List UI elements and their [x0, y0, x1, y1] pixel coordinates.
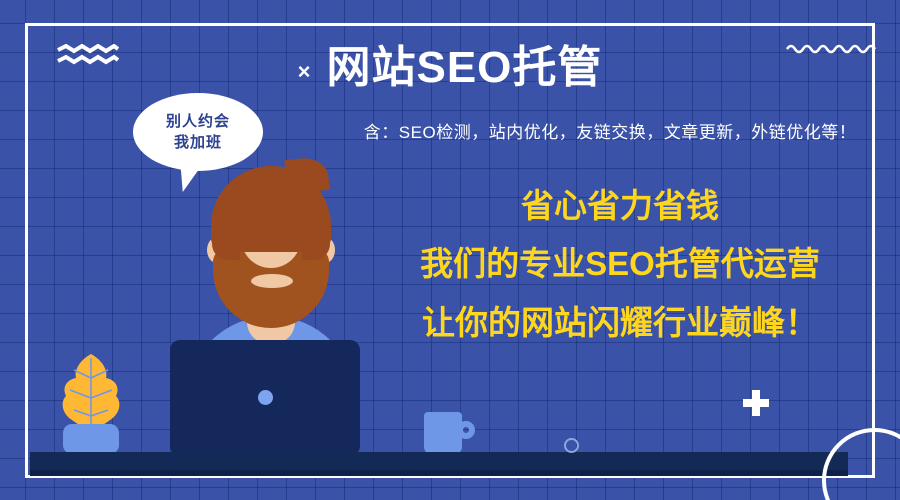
coffee-mug-handle: [457, 421, 475, 439]
title-row: × 网站SEO托管: [0, 45, 900, 91]
speech-bubble-line1: 别人约会: [166, 113, 230, 130]
page-title: 网站SEO托管: [326, 45, 602, 91]
page-subtitle: 含：SEO检测，站内优化，友链交换，文章更新，外链优化等！: [330, 118, 890, 143]
pitch-block: 省心省力省钱 我们的专业SEO托管代运营 让你的网站闪耀行业巅峰！: [370, 188, 870, 341]
coffee-mug: [424, 412, 462, 454]
character-brow-right: [286, 232, 312, 238]
poster-canvas: 别人约会 我加班 × 网站SEO托管 含：SEO检测，站内优化，友链交换，文章更…: [0, 0, 900, 500]
character-brow-left: [233, 232, 259, 238]
close-x-icon: ×: [298, 61, 311, 83]
plant-pot: [63, 424, 119, 454]
pitch-line-1: 省心省力省钱: [521, 188, 719, 224]
small-circle-icon: [564, 438, 579, 453]
plus-mark-icon: [743, 390, 769, 416]
speech-bubble-line2: 我加班: [174, 134, 222, 151]
pitch-line-2: 我们的专业SEO托管代运营: [420, 246, 820, 282]
character-mouth: [251, 274, 293, 288]
corner-circle-icon: [822, 428, 900, 500]
desk-edge: [30, 470, 848, 476]
speech-bubble: 别人约会 我加班: [133, 93, 263, 171]
pitch-line-3: 让你的网站闪耀行业巅峰！: [422, 305, 818, 341]
laptop-logo-icon: [258, 390, 273, 405]
